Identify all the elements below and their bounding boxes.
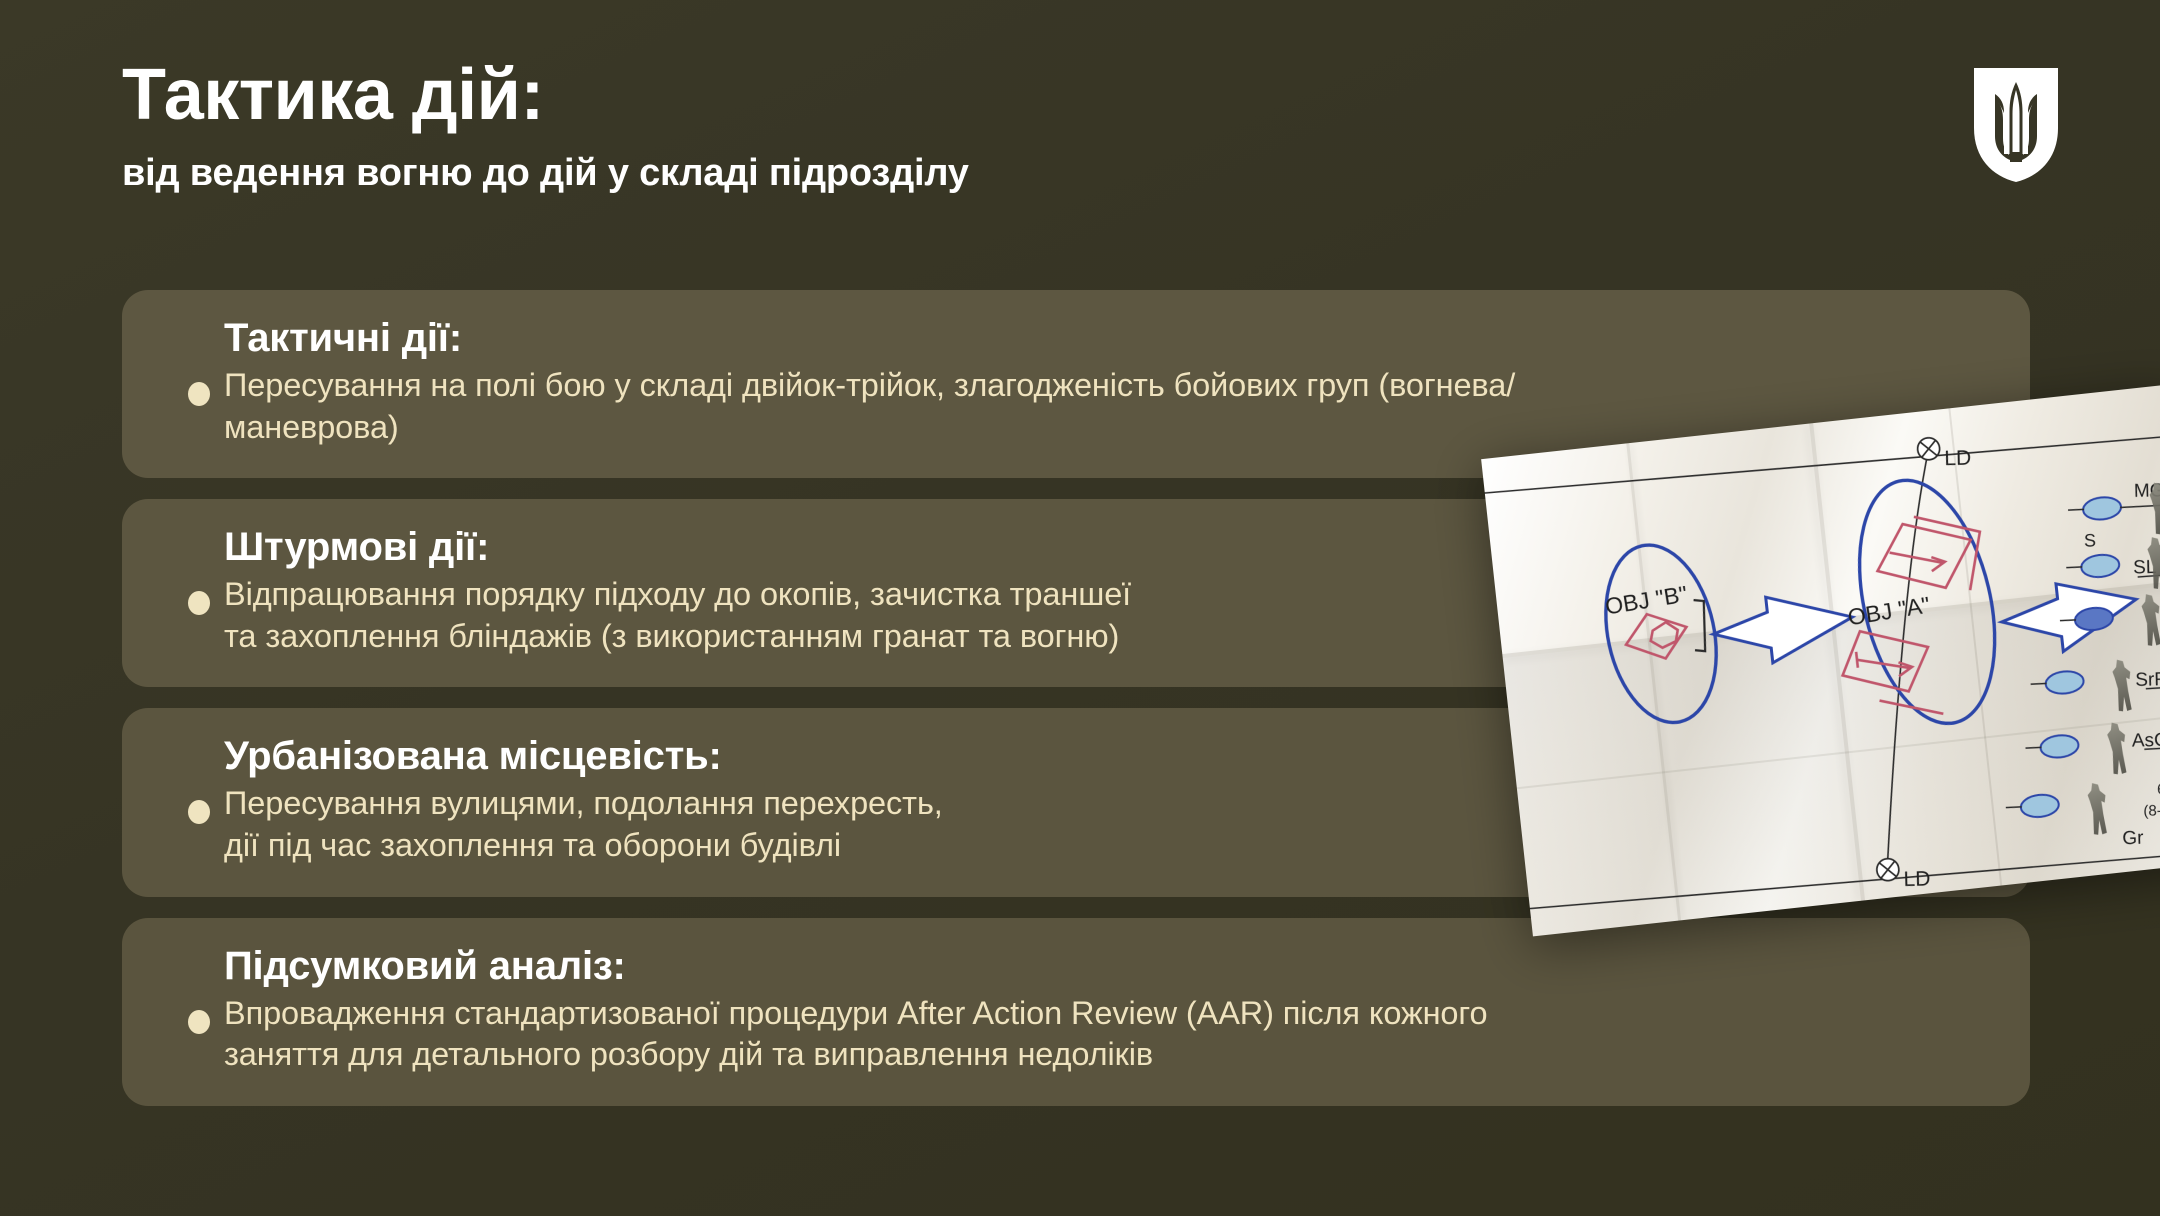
slide-root: Тактика дій: від ведення вогню до дій у … xyxy=(0,0,2160,1216)
position-marker xyxy=(2005,793,2060,821)
bullet-icon xyxy=(188,382,210,406)
card-title: Тактичні дії: xyxy=(224,316,1986,361)
sketch-drawing: LD LD OBJ "B" OBJ "A" MG S SL SrR AsGr G… xyxy=(1481,384,2160,937)
tactical-sketch-photo: LD LD OBJ "B" OBJ "A" MG S SL SrR AsGr G… xyxy=(1481,384,2160,937)
label-ld-top: LD xyxy=(1944,447,1971,471)
label-asgr: AsGr xyxy=(2132,730,2160,752)
card-body: Впровадження стандартизованої процедури … xyxy=(166,993,1986,1076)
label-srr: SrR xyxy=(2135,669,2160,691)
bullet-icon xyxy=(188,591,210,615)
bullet-icon xyxy=(188,1010,210,1034)
label-ld-bottom: LD xyxy=(1903,868,1930,892)
label-spacing-2: (8-12 кроків) xyxy=(2143,801,2160,820)
label-obj-a: OBJ "A" xyxy=(1846,591,1932,630)
paper-sheet: LD LD OBJ "B" OBJ "A" MG S SL SrR AsGr G… xyxy=(1481,384,2160,937)
header: Тактика дій: від ведення вогню до дій у … xyxy=(122,58,969,195)
trident-icon xyxy=(1970,66,2062,184)
label-gr: Gr xyxy=(2122,828,2144,849)
card-title: Підсумковий аналіз: xyxy=(224,944,1986,989)
bracket-icon xyxy=(1690,599,1710,652)
bullet-icon xyxy=(188,800,210,824)
position-marker xyxy=(2065,553,2120,581)
page-subtitle: від ведення вогню до дій у складі підроз… xyxy=(122,152,969,195)
position-marker xyxy=(2030,670,2085,698)
label-s: S xyxy=(2084,530,2096,550)
card-text: Впровадження стандартизованої процедури … xyxy=(224,993,1986,1076)
page-title: Тактика дій: xyxy=(122,58,969,134)
card-after-action-review[interactable]: Підсумковий аналіз: Впровадження стандар… xyxy=(122,918,2030,1106)
position-marker xyxy=(2025,733,2080,761)
